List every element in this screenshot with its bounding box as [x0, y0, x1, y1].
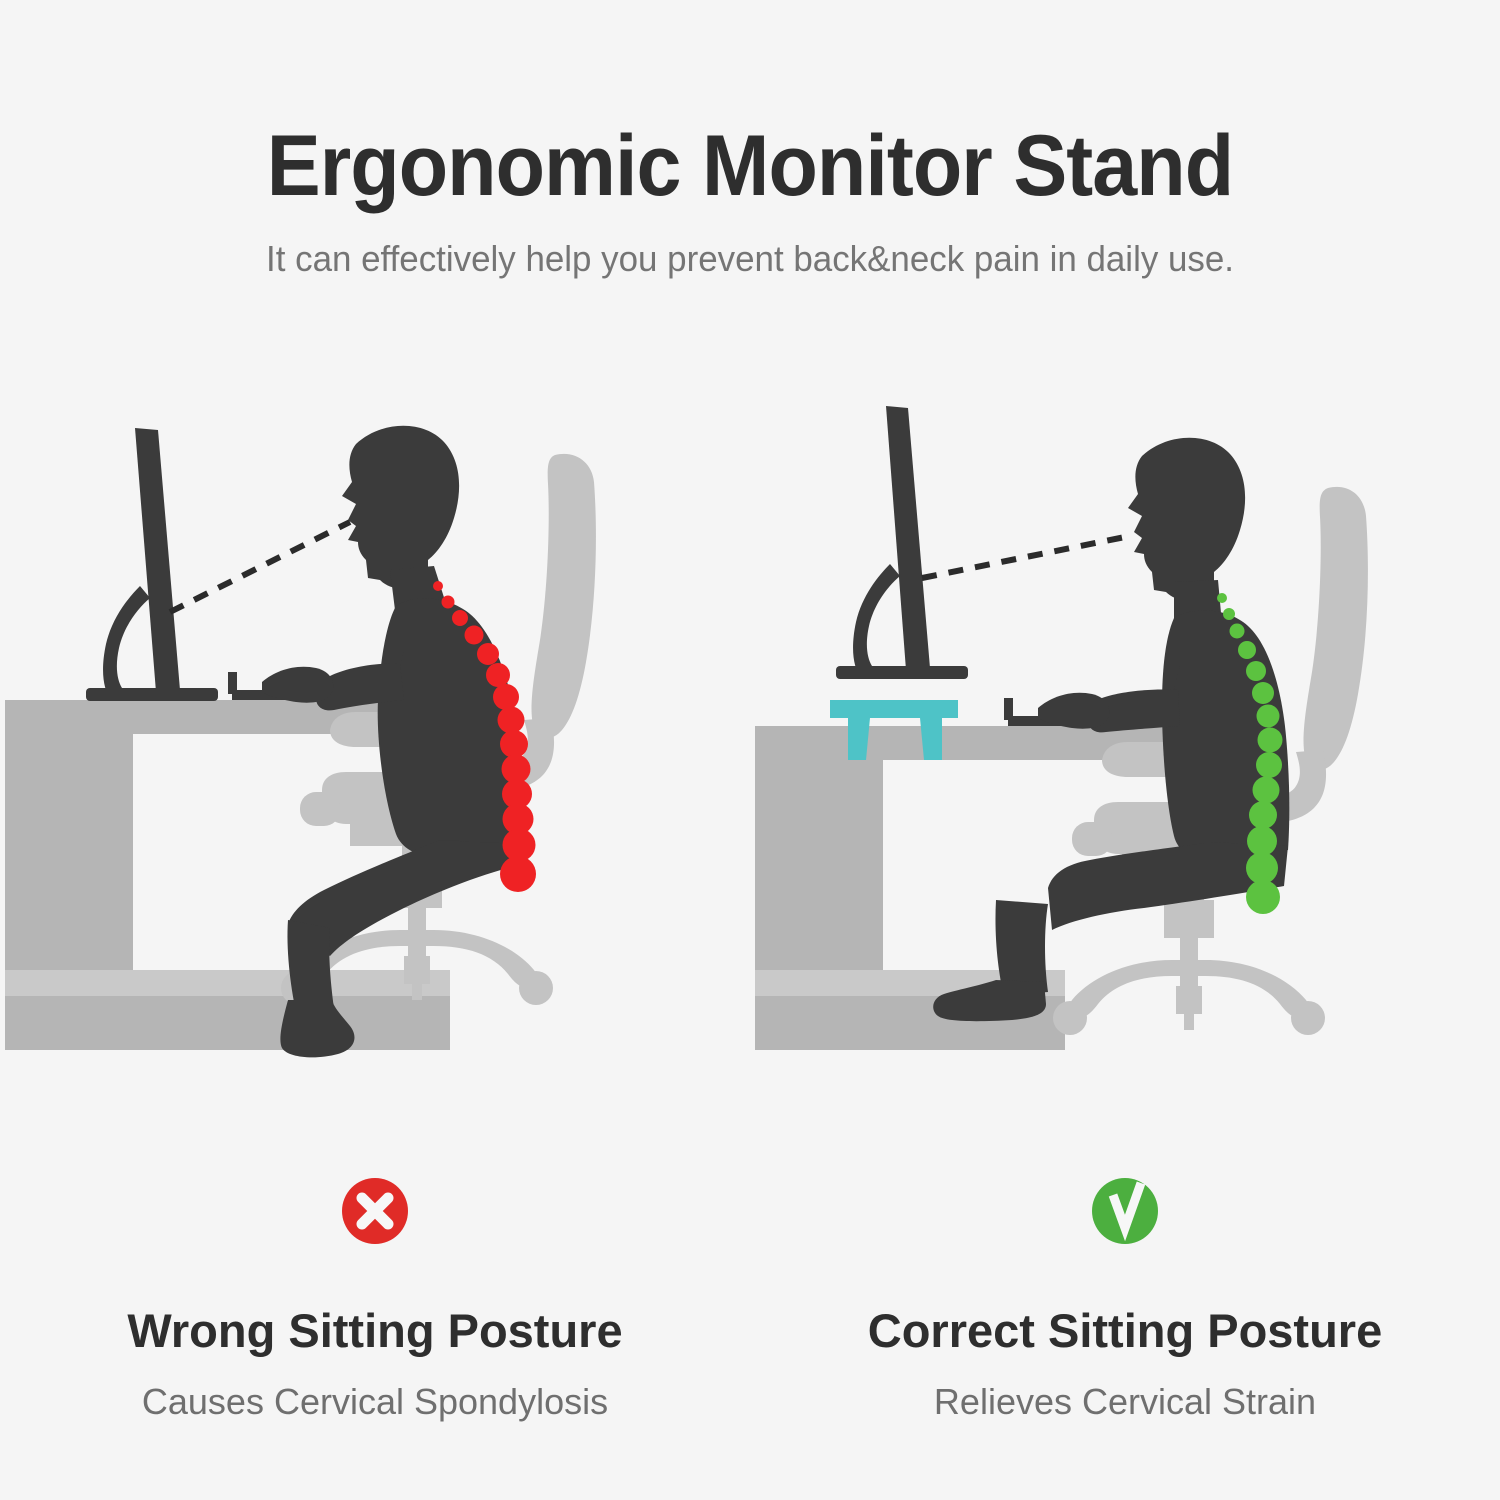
caption-title-wrong: Wrong Sitting Posture	[0, 1303, 750, 1359]
caption-subtitle-wrong: Causes Cervical Spondylosis	[0, 1379, 750, 1425]
caption-correct: Correct Sitting Posture Relieves Cervica…	[750, 1175, 1500, 1425]
page-title: Ergonomic Monitor Stand	[45, 118, 1455, 214]
caption-subtitle-correct: Relieves Cervical Strain	[750, 1379, 1500, 1425]
caption-wrong: Wrong Sitting Posture Causes Cervical Sp…	[0, 1175, 750, 1425]
sight-line-wrong	[170, 522, 350, 612]
check-circle-icon	[1089, 1175, 1161, 1247]
caption-title-correct: Correct Sitting Posture	[750, 1303, 1500, 1359]
monitor-wrong	[86, 428, 218, 701]
monitor-correct	[836, 406, 968, 679]
illustration-panels	[0, 400, 1500, 1080]
caption-row: Wrong Sitting Posture Causes Cervical Sp…	[0, 1175, 1500, 1425]
cross-circle-icon	[339, 1175, 411, 1247]
correct-posture-panel	[750, 400, 1500, 1080]
header: Ergonomic Monitor Stand It can effective…	[0, 0, 1500, 282]
person-wrong	[262, 426, 523, 1058]
page-subtitle: It can effectively help you prevent back…	[23, 236, 1478, 282]
infographic-page: Ergonomic Monitor Stand It can effective…	[0, 0, 1500, 1500]
wrong-posture-panel	[0, 400, 750, 1080]
sight-line-correct	[922, 536, 1130, 578]
